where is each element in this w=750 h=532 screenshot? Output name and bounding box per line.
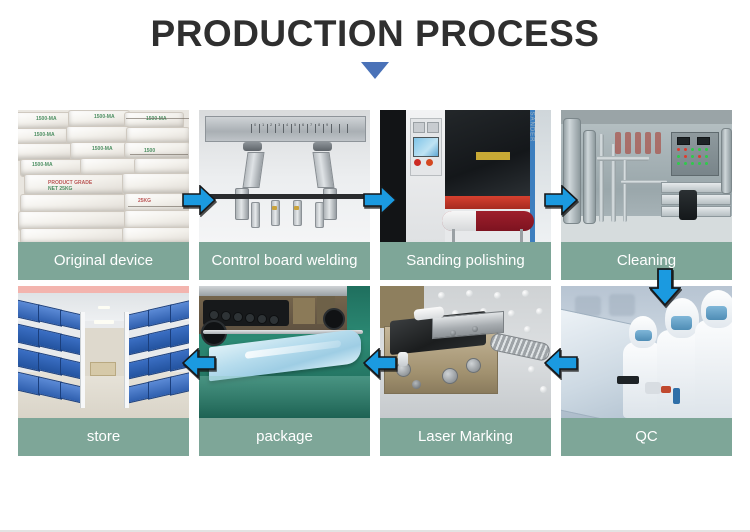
step-caption: Control board welding [199, 242, 370, 280]
process-step-sanding-polishing[interactable]: SANDER Sanding polishing [380, 110, 551, 280]
photo-welding-machine: 01 23 45 67 89 [199, 110, 370, 242]
photo-film-sealing-machine [199, 286, 370, 418]
photo-sanding-polishing-machine: SANDER [380, 110, 551, 242]
arrow-down-icon [649, 268, 681, 306]
photo-stacked-white-sacks: 1500-MA 1500-MA 1500-MA 1500-MA 1500-MA … [18, 110, 189, 242]
step-caption: Original device [18, 242, 189, 280]
process-step-qc[interactable]: QC [561, 286, 732, 456]
arrow-right-icon [544, 185, 578, 215]
process-step-original-device[interactable]: 1500-MA 1500-MA 1500-MA 1500-MA 1500-MA … [18, 110, 189, 280]
triangle-down-icon [361, 62, 389, 79]
step-caption: QC [561, 418, 732, 456]
step-caption: Sanding polishing [380, 242, 551, 280]
photo-cleanroom-inspection-workers [561, 286, 732, 418]
step-caption: Laser Marking [380, 418, 551, 456]
arrow-right-icon [182, 185, 216, 215]
process-row-1: 1500-MA 1500-MA 1500-MA 1500-MA 1500-MA … [18, 110, 732, 280]
page-title: PRODUCTION PROCESS [0, 14, 750, 55]
step-caption: Cleaning [561, 242, 732, 280]
arrow-right-icon [363, 185, 397, 215]
title-divider [0, 62, 750, 82]
process-step-control-board-welding[interactable]: 01 23 45 67 89 Control board welding [199, 110, 370, 280]
process-step-cleaning[interactable]: Cleaning [561, 110, 732, 280]
photo-warehouse-shelving-blue-bins [18, 286, 189, 418]
process-step-store[interactable]: store [18, 286, 189, 456]
arrow-left-icon [182, 348, 216, 378]
arrow-left-icon [544, 348, 578, 378]
header: PRODUCTION PROCESS [0, 0, 750, 55]
photo-water-treatment-equipment [561, 110, 732, 242]
process-step-laser-marking[interactable]: Laser Marking [380, 286, 551, 456]
step-caption: package [199, 418, 370, 456]
photo-laser-marking-fixture [380, 286, 551, 418]
process-grid: 1500-MA 1500-MA 1500-MA 1500-MA 1500-MA … [18, 110, 732, 462]
step-caption: store [18, 418, 189, 456]
process-step-package[interactable]: package [199, 286, 370, 456]
arrow-left-icon [363, 348, 397, 378]
process-row-2: store [18, 286, 732, 456]
